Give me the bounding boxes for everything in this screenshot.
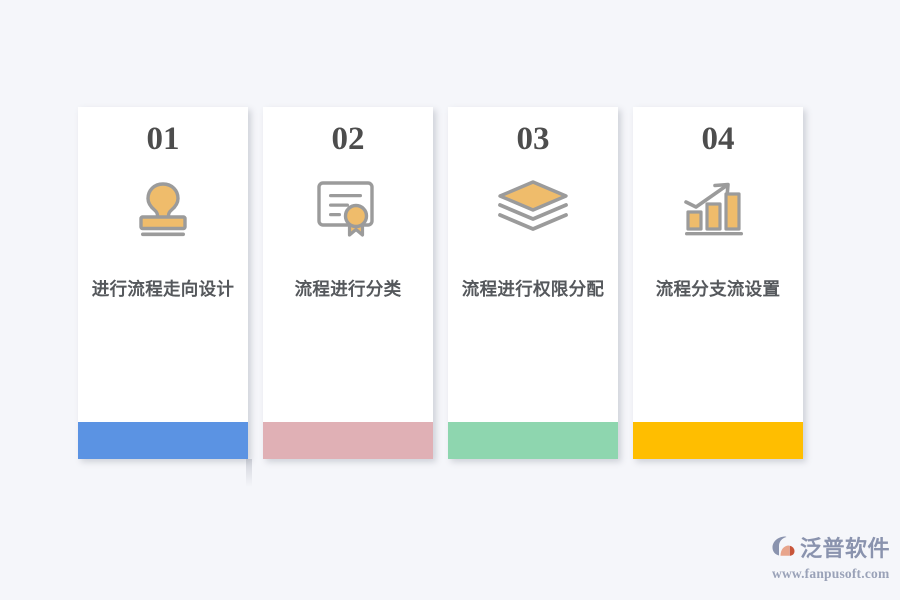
step-number: 01 (147, 123, 180, 156)
step-accent-bar (78, 422, 248, 459)
certificate-icon (309, 175, 387, 241)
step-card-04[interactable]: 04 流程分支流设置 (633, 107, 803, 459)
layers-icon (494, 175, 572, 241)
step-title: 流程进行分类 (273, 277, 423, 301)
step-title: 流程分支流设置 (643, 277, 793, 301)
step-card-03[interactable]: 03 流程进行权限分配 (448, 107, 618, 459)
step-title: 流程进行权限分配 (458, 277, 608, 301)
fanpu-logo-icon (771, 534, 797, 563)
step-number: 03 (517, 123, 550, 156)
step-card-deck: 01 进行流程走向设计 02 (78, 107, 805, 459)
step-accent-bar (263, 422, 433, 459)
watermark: 泛普软件 www.fanpusoft.com (771, 534, 893, 580)
step-accent-bar (633, 422, 803, 459)
step-card-01[interactable]: 01 进行流程走向设计 (78, 107, 248, 459)
growth-chart-icon (679, 175, 757, 241)
watermark-brand-row: 泛普软件 (771, 534, 890, 563)
stamp-icon (124, 175, 202, 241)
infographic-canvas: 01 进行流程走向设计 02 (0, 0, 900, 600)
card-shadow-tail (246, 459, 252, 487)
step-number: 04 (702, 123, 735, 156)
step-number: 02 (332, 123, 365, 156)
watermark-brand-name: 泛普软件 (800, 538, 890, 560)
step-title: 进行流程走向设计 (88, 277, 238, 301)
watermark-url: www.fanpusoft.com (772, 567, 889, 581)
step-accent-bar (448, 422, 618, 459)
step-card-02[interactable]: 02 流程进行分类 (263, 107, 433, 459)
